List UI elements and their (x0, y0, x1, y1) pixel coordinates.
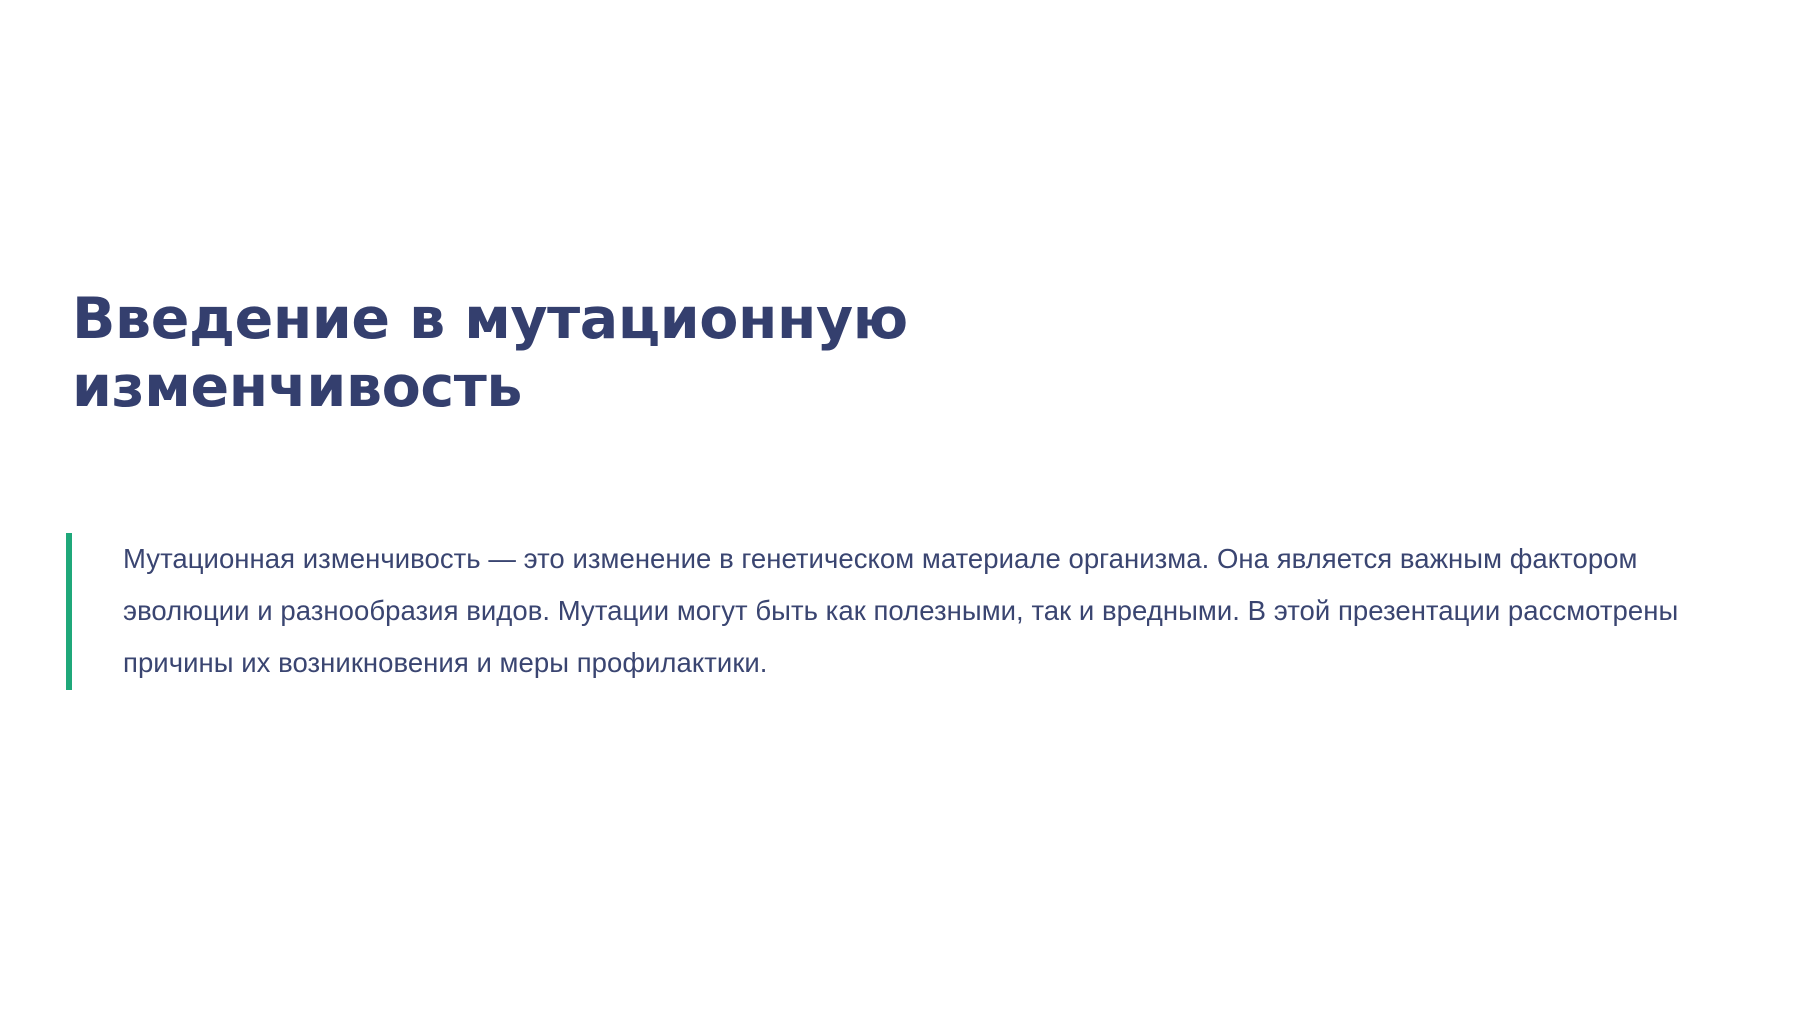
presentation-slide: Введение в мутационную изменчивость Мута… (0, 0, 1800, 1013)
page-title: Введение в мутационную изменчивость (72, 286, 1372, 422)
intro-paragraph-block: Мутационная изменчивость — это изменение… (66, 533, 1726, 690)
intro-paragraph-text: Мутационная изменчивость — это изменение… (72, 533, 1726, 690)
